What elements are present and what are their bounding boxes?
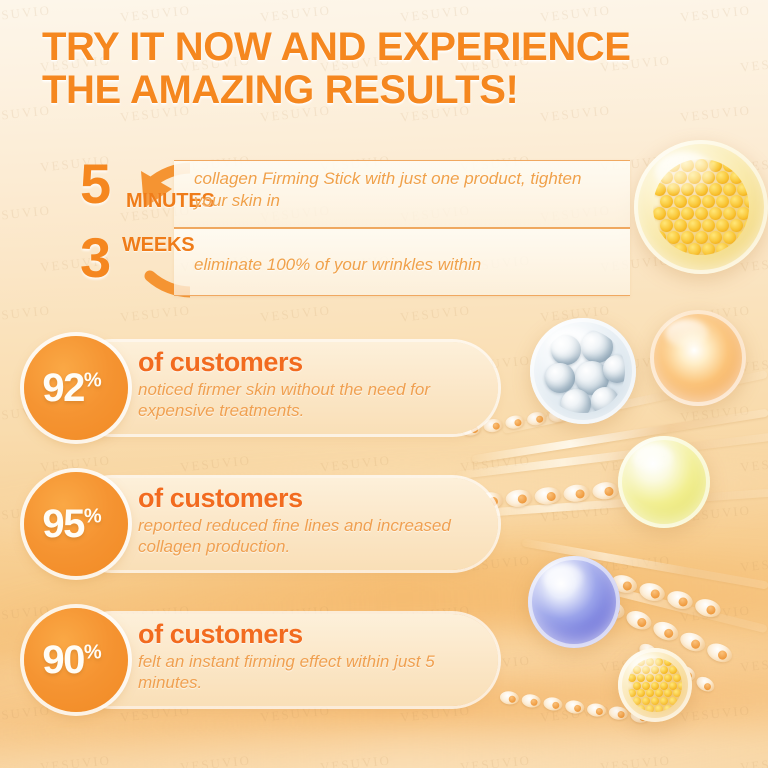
status-badge: 90% <box>24 608 128 712</box>
stat-percent-value: 95% <box>42 502 101 547</box>
headline-line-2: THE AMAZING RESULTS! <box>42 69 732 112</box>
timer-unit-weeks: WEEKS <box>122 234 194 257</box>
stat-body: of customers reported reduced fine lines… <box>138 484 488 558</box>
stat-description: noticed firmer skin without the need for… <box>138 379 488 421</box>
stat-lead: of customers <box>138 484 488 512</box>
stat-lead: of customers <box>138 348 488 376</box>
timer-rows: 5 MINUTES collagen Firming Stick with ju… <box>54 160 630 296</box>
promo-poster: VESUVIOVESUVIOVESUVIOVESUVIOVESUVIOVESUV… <box>0 0 768 768</box>
stat-row-92: 92% of customers noticed firmer skin wit… <box>14 336 498 440</box>
status-badge: 92% <box>24 336 128 440</box>
stat-description: felt an instant firming effect within ju… <box>138 651 488 693</box>
headline-line-1: TRY IT NOW AND EXPERIENCE <box>42 26 732 69</box>
timer-block: 5 MINUTES collagen Firming Stick with ju… <box>30 148 630 313</box>
page-title: TRY IT NOW AND EXPERIENCE THE AMAZING RE… <box>42 26 732 112</box>
stat-body: of customers noticed firmer skin without… <box>138 348 488 422</box>
stat-body: of customers felt an instant firming eff… <box>138 620 488 694</box>
timer-row-weeks: 3 WEEKS eliminate 100% of your wrinkles … <box>54 228 630 296</box>
stat-percent-value: 92% <box>42 366 101 411</box>
stat-description: reported reduced fine lines and increase… <box>138 515 488 557</box>
stat-row-95: 95% of customers reported reduced fine l… <box>14 472 498 576</box>
timer-number-minutes: 5 <box>80 156 111 212</box>
timer-text-weeks: eliminate 100% of your wrinkles within <box>194 254 614 276</box>
stat-percent-value: 90% <box>42 638 101 683</box>
timer-text-minutes: collagen Firming Stick with just one pro… <box>194 168 614 212</box>
timer-number-weeks: 3 <box>80 230 111 286</box>
timer-row-minutes: 5 MINUTES collagen Firming Stick with ju… <box>54 160 630 228</box>
status-badge: 95% <box>24 472 128 576</box>
stat-row-90: 90% of customers felt an instant firming… <box>14 608 498 712</box>
stat-lead: of customers <box>138 620 488 648</box>
